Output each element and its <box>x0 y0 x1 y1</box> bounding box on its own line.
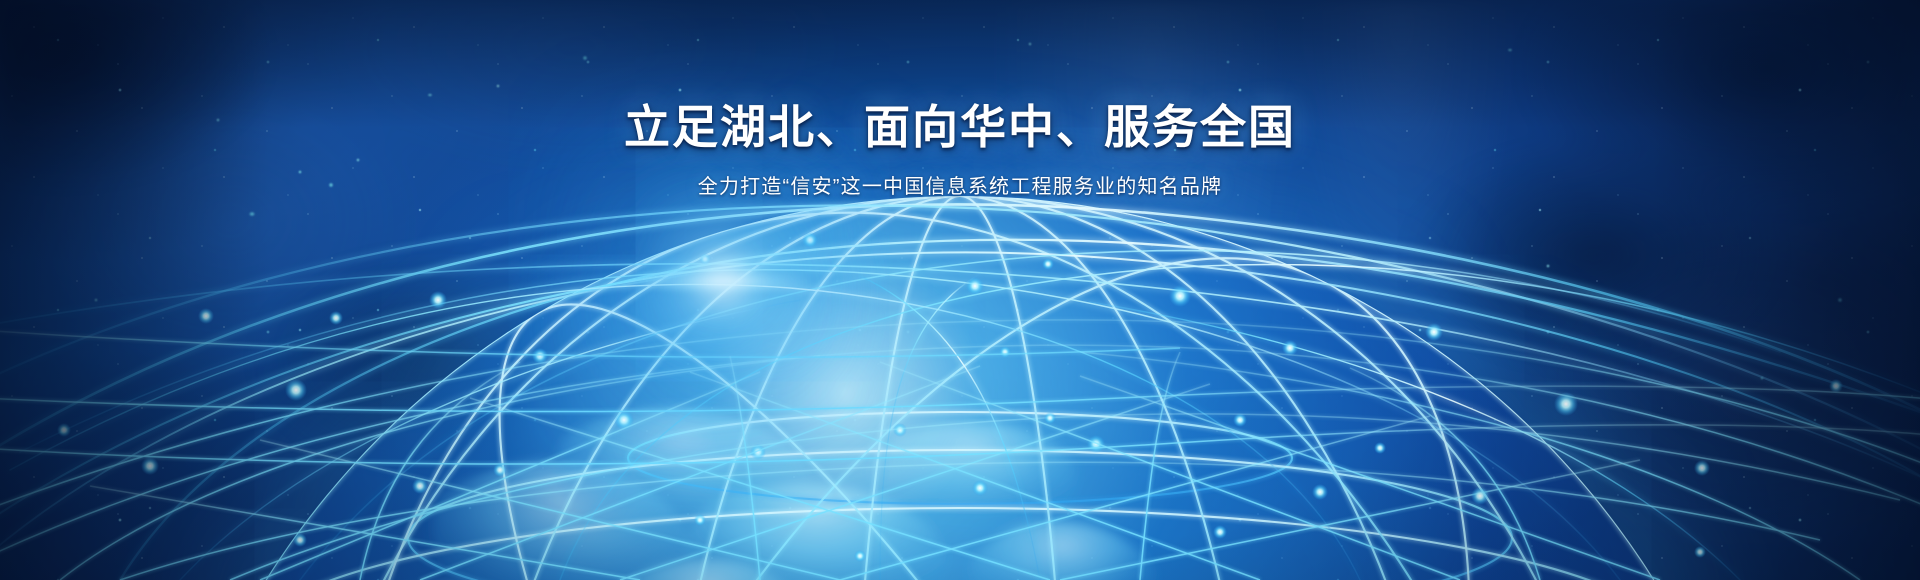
banner-headline: 立足湖北、面向华中、服务全国 <box>0 96 1920 158</box>
banner-subheadline: 全力打造“信安”这一中国信息系统工程服务业的知名品牌 <box>0 172 1920 202</box>
network-mesh-layer <box>0 0 1920 580</box>
core-light-flare <box>640 268 810 294</box>
hero-banner: 立足湖北、面向华中、服务全国 全力打造“信安”这一中国信息系统工程服务业的知名品… <box>0 0 1920 580</box>
network-mesh-nodes <box>293 412 1706 562</box>
banner-copy: 立足湖北、面向华中、服务全国 全力打造“信安”这一中国信息系统工程服务业的知名品… <box>0 96 1920 202</box>
